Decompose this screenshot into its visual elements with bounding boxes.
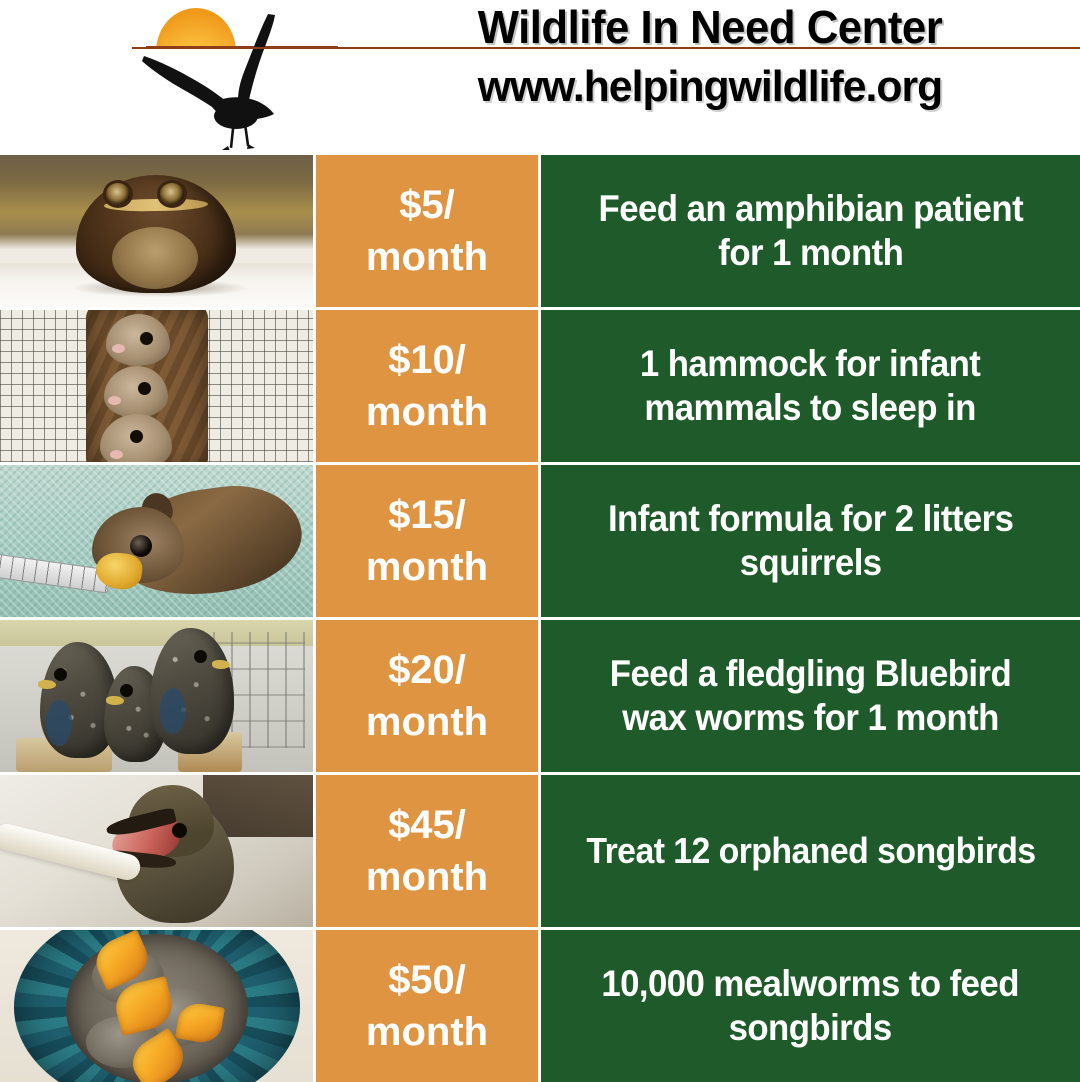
price-period: month	[366, 231, 488, 283]
description-line-2: wax worms for 1 month	[610, 696, 1011, 740]
description-line-1: 1 hammock for infant	[640, 342, 980, 386]
price-period: month	[366, 851, 488, 903]
description-line-2: songbirds	[602, 1006, 1020, 1050]
photo-toad	[0, 155, 313, 307]
price-cell: $15/ month	[316, 465, 538, 617]
price-cell: $10/ month	[316, 310, 538, 462]
price-amount: $15/	[366, 489, 488, 541]
description-line-1: Feed an amphibian patient	[598, 187, 1023, 231]
price-amount: $50/	[366, 954, 488, 1006]
price-period: month	[366, 1006, 488, 1058]
donation-levels-list: $5/ month Feed an amphibian patient for …	[0, 155, 1080, 1080]
page-title: Wildlife In Need Center	[359, 2, 1062, 52]
photo-squirrel-bottle-feeding	[0, 465, 313, 617]
photo-songbird-hand-feeding	[0, 775, 313, 927]
description-line-1: Infant formula for 2 litters	[608, 497, 1013, 541]
price-period: month	[366, 541, 488, 593]
donation-row: $50/ month 10,000 mealworms to feed song…	[0, 930, 1080, 1082]
price-amount: $20/	[366, 644, 488, 696]
donation-row: $20/ month Feed a fledgling Bluebird wax…	[0, 620, 1080, 772]
photo-nestlings-in-nest	[0, 930, 313, 1082]
description-line-2: mammals to sleep in	[640, 386, 980, 430]
price-amount: $45/	[366, 799, 488, 851]
description-line-2: for 1 month	[598, 231, 1023, 275]
price-cell: $5/ month	[316, 155, 538, 307]
price-period: month	[366, 696, 488, 748]
header-divider-rule	[132, 47, 1080, 49]
donation-row: $15/ month Infant formula for 2 litters …	[0, 465, 1080, 617]
description-cell: 1 hammock for infant mammals to sleep in	[541, 310, 1080, 462]
description-cell: Feed a fledgling Bluebird wax worms for …	[541, 620, 1080, 772]
bird-sunset-logo	[128, 0, 338, 150]
poster-header: Wildlife In Need Center www.helpingwildl…	[0, 0, 1080, 155]
description-line-2: squirrels	[608, 541, 1013, 585]
description-cell: Infant formula for 2 litters squirrels	[541, 465, 1080, 617]
price-amount: $5/	[366, 179, 488, 231]
description-line-1: Feed a fledgling Bluebird	[610, 652, 1011, 696]
photo-flying-squirrels-hammock	[0, 310, 313, 462]
photo-fledgling-bluebirds	[0, 620, 313, 772]
description-line-1: 10,000 mealworms to feed	[602, 962, 1020, 1006]
donation-poster: Wildlife In Need Center www.helpingwildl…	[0, 0, 1080, 1080]
donation-row: $10/ month 1 hammock for infant mammals …	[0, 310, 1080, 462]
logo-svg	[128, 0, 338, 150]
donation-row: $5/ month Feed an amphibian patient for …	[0, 155, 1080, 307]
website-url: www.helpingwildlife.org	[351, 62, 1069, 112]
price-cell: $45/ month	[316, 775, 538, 927]
price-cell: $20/ month	[316, 620, 538, 772]
description-cell: Feed an amphibian patient for 1 month	[541, 155, 1080, 307]
price-period: month	[366, 386, 488, 438]
price-cell: $50/ month	[316, 930, 538, 1082]
header-text-block: Wildlife In Need Center www.helpingwildl…	[340, 0, 1080, 155]
donation-row: $45/ month Treat 12 orphaned songbirds	[0, 775, 1080, 927]
price-amount: $10/	[366, 334, 488, 386]
description-cell: Treat 12 orphaned songbirds	[541, 775, 1080, 927]
description-cell: 10,000 mealworms to feed songbirds	[541, 930, 1080, 1082]
description-line-1: Treat 12 orphaned songbirds	[586, 829, 1035, 873]
